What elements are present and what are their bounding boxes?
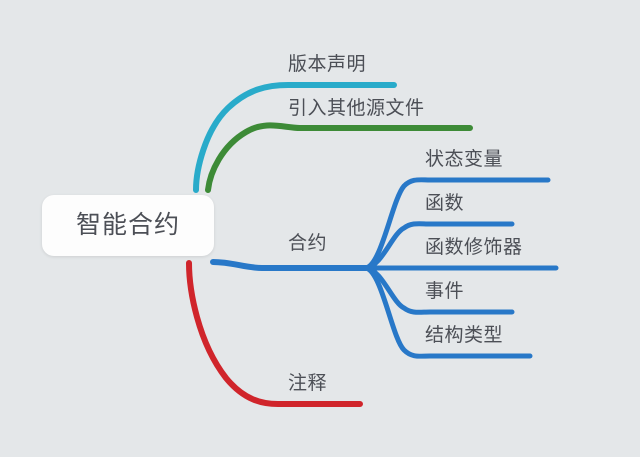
node-label-struct-types[interactable]: 结构类型 <box>425 326 503 345</box>
root-node[interactable]: 智能合约 <box>42 195 214 256</box>
root-node-label: 智能合约 <box>76 213 180 238</box>
branch-line-contract <box>213 262 366 268</box>
branch-line-comments <box>189 263 360 404</box>
node-label-version-declaration[interactable]: 版本声明 <box>288 55 366 74</box>
node-label-contract[interactable]: 合约 <box>288 234 327 253</box>
node-label-comments[interactable]: 注释 <box>288 374 327 393</box>
mindmap-canvas: 智能合约 版本声明 引入其他源文件 合约 注释 状态变量 函数 函数修饰器 事件… <box>0 0 640 457</box>
node-label-events[interactable]: 事件 <box>425 282 464 301</box>
node-label-function-modifiers[interactable]: 函数修饰器 <box>425 238 523 257</box>
node-label-functions[interactable]: 函数 <box>425 194 464 213</box>
node-label-state-variables[interactable]: 状态变量 <box>425 150 503 169</box>
node-label-import-source-files[interactable]: 引入其他源文件 <box>288 99 425 118</box>
